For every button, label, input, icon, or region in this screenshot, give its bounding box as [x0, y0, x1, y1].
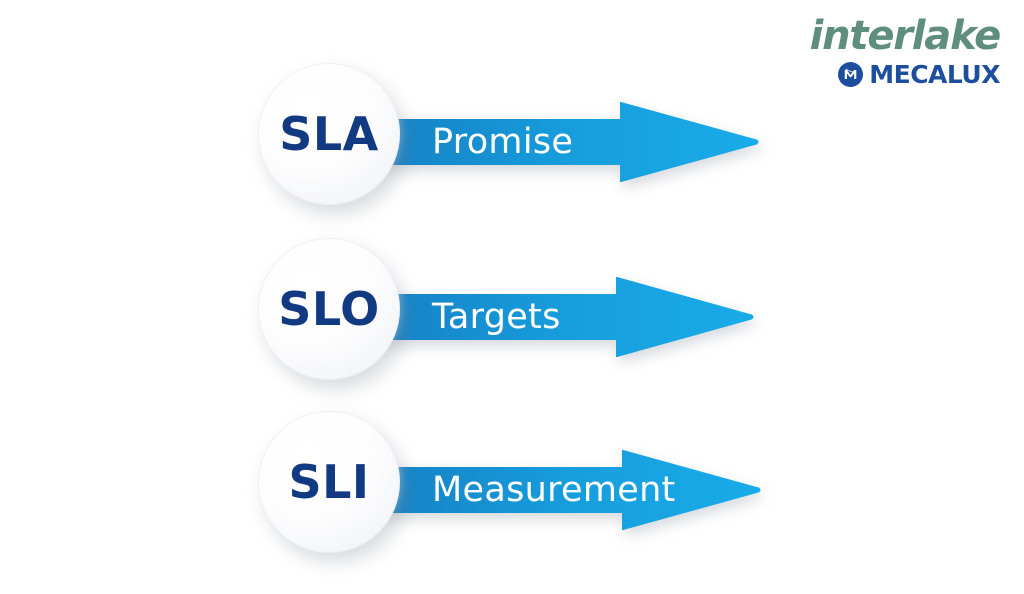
circle-badge-slo: SLO	[258, 238, 400, 380]
logo-wordmark: interlake	[788, 16, 1000, 56]
slide-canvas: interlake MECALUX	[0, 0, 1024, 594]
circle-label-sla: SLA	[279, 111, 379, 157]
circle-label-sli: SLI	[288, 459, 369, 505]
diagram-row-slo: Targets SLO	[0, 230, 1024, 405]
diagram-row-sla: Promise SLA	[0, 55, 1024, 230]
circle-badge-sli: SLI	[258, 411, 400, 553]
diagram-row-sli: Measurement SLI	[0, 403, 1024, 578]
circle-label-slo: SLO	[278, 286, 379, 332]
circle-badge-sla: SLA	[258, 63, 400, 205]
